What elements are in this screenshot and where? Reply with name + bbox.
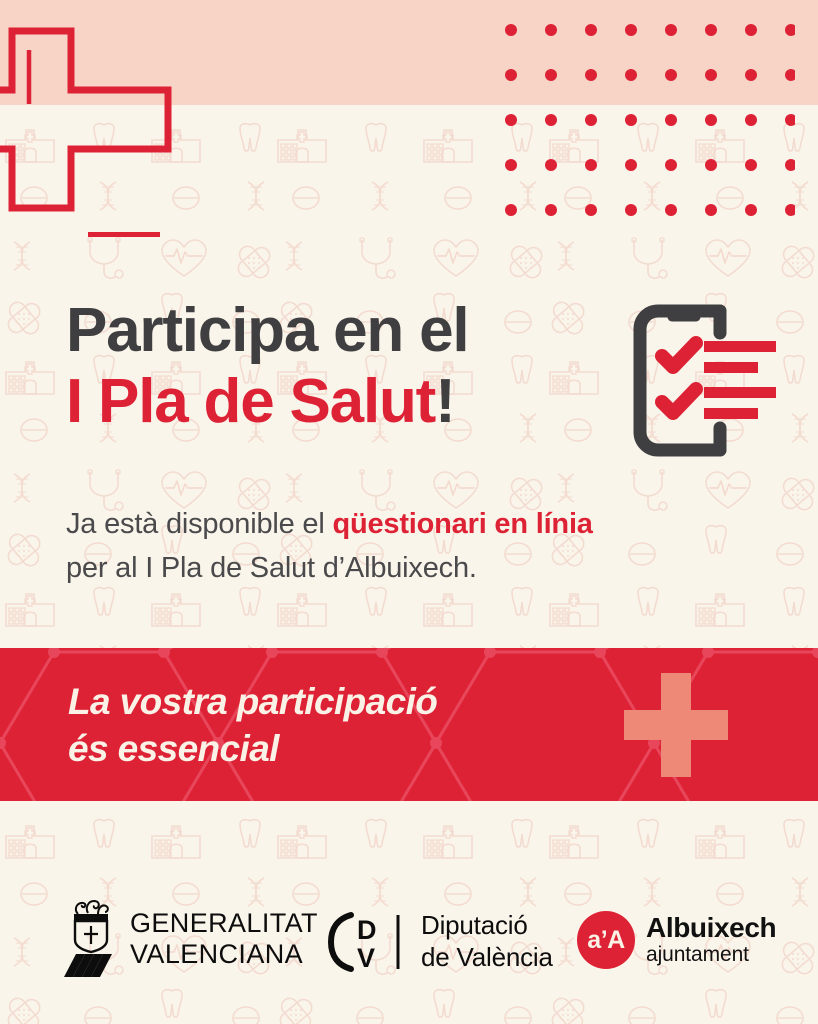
- albuixech-badge-label: a’A: [587, 928, 624, 953]
- generalitat-wordmark: GENERALITAT VALENCIANA: [130, 908, 318, 971]
- generalitat-line-2: VALENCIANA: [130, 939, 318, 970]
- participation-banner: La vostra participació és essencial: [0, 648, 818, 801]
- outlined-cross-decoration: [0, 28, 148, 208]
- diputacio-wordmark: Diputació de València: [421, 910, 553, 973]
- diputacio-line-2: de València: [421, 942, 553, 974]
- generalitat-emblem-icon: [62, 898, 118, 980]
- diputacio-monogram-icon: D V: [327, 911, 405, 973]
- logo-albuixech-ajuntament: a’A Albuixech ajuntament: [577, 911, 776, 969]
- headline-plan-text: I Pla de Salut: [66, 367, 435, 436]
- banner-cross-icon: [624, 673, 728, 777]
- albuixech-subtitle: ajuntament: [646, 943, 776, 967]
- poster-headline: Participa en el I Pla de Salut!: [66, 300, 468, 433]
- headline-line-1: Participa en el: [66, 300, 468, 362]
- albuixech-name: Albuixech: [646, 913, 776, 942]
- health-campaign-poster: Participa en el I Pla de Salut! Ja està …: [0, 0, 818, 1024]
- logo-diputacio-de-valencia: D V Diputació de València: [327, 910, 553, 973]
- subtitle-text-after: per al I Pla de Salut d’Albuixech.: [66, 552, 477, 584]
- albuixech-wordmark: Albuixech ajuntament: [646, 913, 776, 968]
- subtitle-highlight: qüestionari en línia: [332, 508, 592, 540]
- generalitat-line-1: GENERALITAT: [130, 908, 318, 939]
- footer-logo-row: GENERALITAT VALENCIANA D V Diputació de …: [0, 888, 818, 998]
- svg-text:V: V: [357, 943, 375, 973]
- red-dash-decoration: [88, 232, 160, 237]
- questionnaire-phone-checklist-icon: [628, 303, 788, 458]
- banner-line-2: és essencial: [68, 726, 437, 773]
- logo-generalitat-valenciana: GENERALITAT VALENCIANA: [62, 898, 318, 980]
- banner-message: La vostra participació és essencial: [68, 679, 437, 773]
- poster-subtitle: Ja està disponible el qüestionari en lín…: [66, 502, 593, 590]
- red-dot-grid-decoration: [505, 24, 795, 224]
- subtitle-text-before: Ja està disponible el: [66, 508, 332, 540]
- svg-text:D: D: [357, 915, 377, 945]
- diputacio-line-1: Diputació: [421, 910, 553, 942]
- headline-line-2: I Pla de Salut!: [66, 371, 468, 433]
- albuixech-badge-icon: a’A: [577, 911, 635, 969]
- banner-line-1: La vostra participació: [68, 679, 437, 726]
- headline-exclamation: !: [435, 367, 454, 436]
